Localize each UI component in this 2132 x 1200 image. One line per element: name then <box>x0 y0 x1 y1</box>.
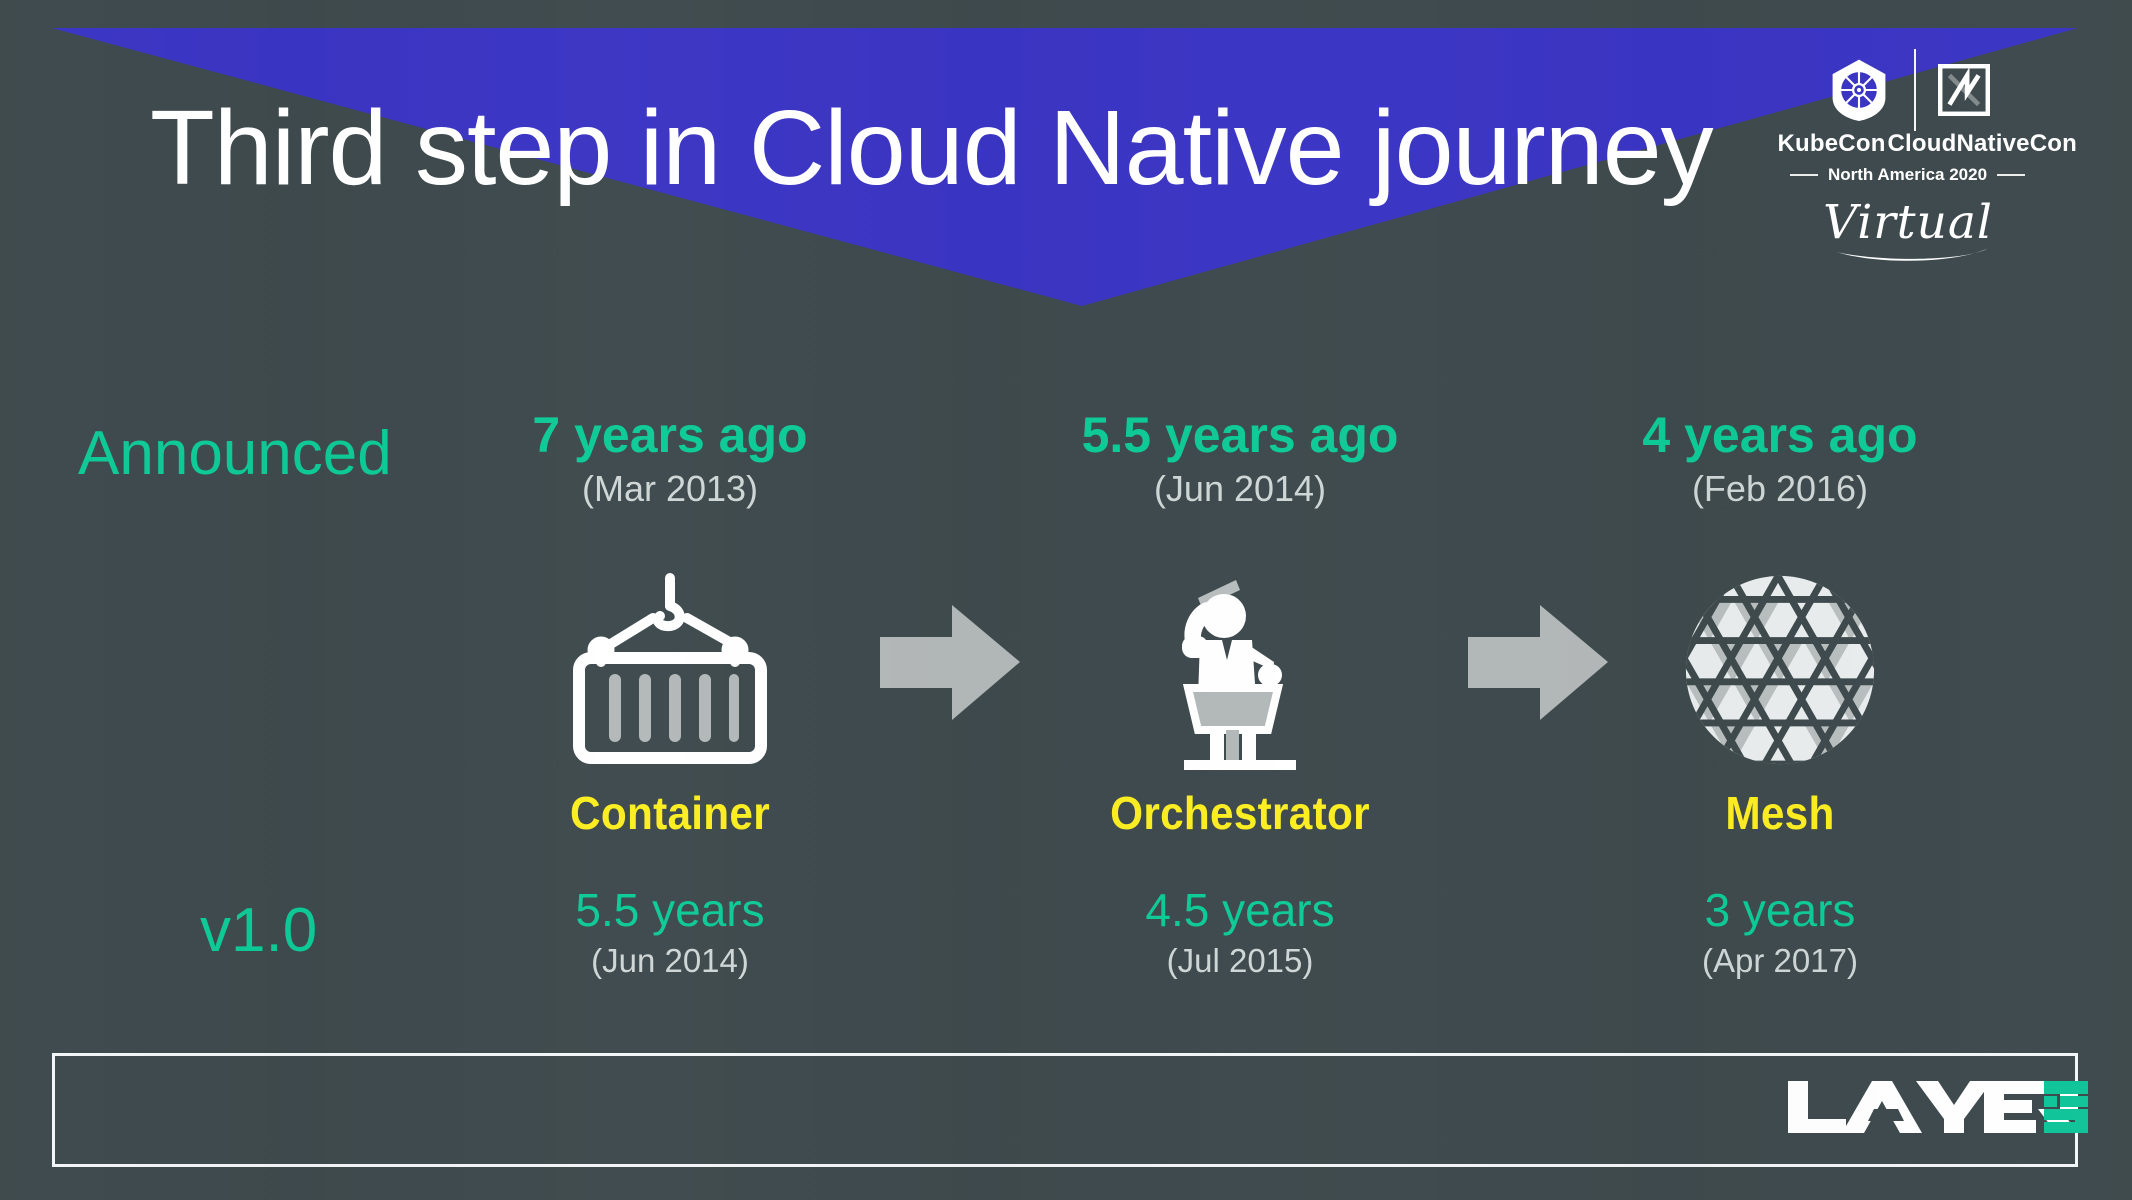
v1-date: (Jun 2014) <box>470 940 870 981</box>
row-label-v1: v1.0 <box>200 895 317 966</box>
v1-cell-container: 5.5 years (Jun 2014) <box>470 886 870 981</box>
shipping-container-icon <box>565 570 775 770</box>
svg-text:Virtual: Virtual <box>1823 195 1993 250</box>
announced-cell-orchestrator: 5.5 years ago (Jun 2014) <box>1040 408 1440 511</box>
rule-left <box>1790 174 1818 176</box>
announced-age: 7 years ago <box>470 408 870 462</box>
row-label-announced: Announced <box>78 418 392 489</box>
v1-age: 4.5 years <box>1040 886 1440 936</box>
tech-label-mesh: Mesh <box>1596 786 1964 840</box>
v1-cell-mesh: 3 years (Apr 2017) <box>1580 886 1980 981</box>
icon-cell-orchestrator <box>1110 565 1370 775</box>
kubernetes-helm-wheel-icon <box>1826 57 1892 123</box>
announced-date: (Feb 2016) <box>1580 466 1980 511</box>
announced-age: 4 years ago <box>1580 408 1980 462</box>
virtual-script-label: Virtual <box>1781 187 2035 265</box>
page-title: Third step in Cloud Native journey <box>150 95 1713 201</box>
tech-label-container: Container <box>486 786 854 840</box>
v1-cell-orchestrator: 4.5 years (Jul 2015) <box>1040 886 1440 981</box>
kubecon-label: KubeCon <box>1778 130 1886 158</box>
footer-frame <box>52 1053 2078 1167</box>
logo-divider <box>1914 49 1916 131</box>
flow-arrow-1 <box>880 605 1020 720</box>
triangular-mesh-circle-icon <box>1682 572 1878 768</box>
cncf-square-icon <box>1938 64 1990 116</box>
logo-region-row: North America 2020 <box>1770 165 2045 185</box>
announced-cell-mesh: 4 years ago (Feb 2016) <box>1580 408 1980 511</box>
announced-age: 5.5 years ago <box>1040 408 1440 462</box>
tech-label-orchestrator: Orchestrator <box>1056 786 1424 840</box>
v1-age: 5.5 years <box>470 886 870 936</box>
logo-names-row: KubeCon CloudNativeCon <box>1770 130 2045 158</box>
region-year-label: North America 2020 <box>1828 165 1987 185</box>
announced-date: (Mar 2013) <box>470 466 870 511</box>
logo-marks-row <box>1770 56 2045 124</box>
slide-root: Third step in Cloud Native journey <box>0 0 2132 1200</box>
conductor-podium-icon <box>1140 570 1340 770</box>
cloudnativecon-label: CloudNativeCon <box>1888 130 2038 158</box>
flow-arrow-2 <box>1468 605 1608 720</box>
v1-date: (Apr 2017) <box>1580 940 1980 981</box>
v1-date: (Jul 2015) <box>1040 940 1440 981</box>
announced-date: (Jun 2014) <box>1040 466 1440 511</box>
announced-cell-container: 7 years ago (Mar 2013) <box>470 408 870 511</box>
conference-logo: KubeCon CloudNativeCon North America 202… <box>1770 56 2045 270</box>
v1-age: 3 years <box>1580 886 1980 936</box>
rule-right <box>1997 174 2025 176</box>
icon-cell-mesh <box>1650 565 1910 775</box>
icon-cell-container <box>540 565 800 775</box>
layer5-logo <box>1788 1079 2088 1135</box>
